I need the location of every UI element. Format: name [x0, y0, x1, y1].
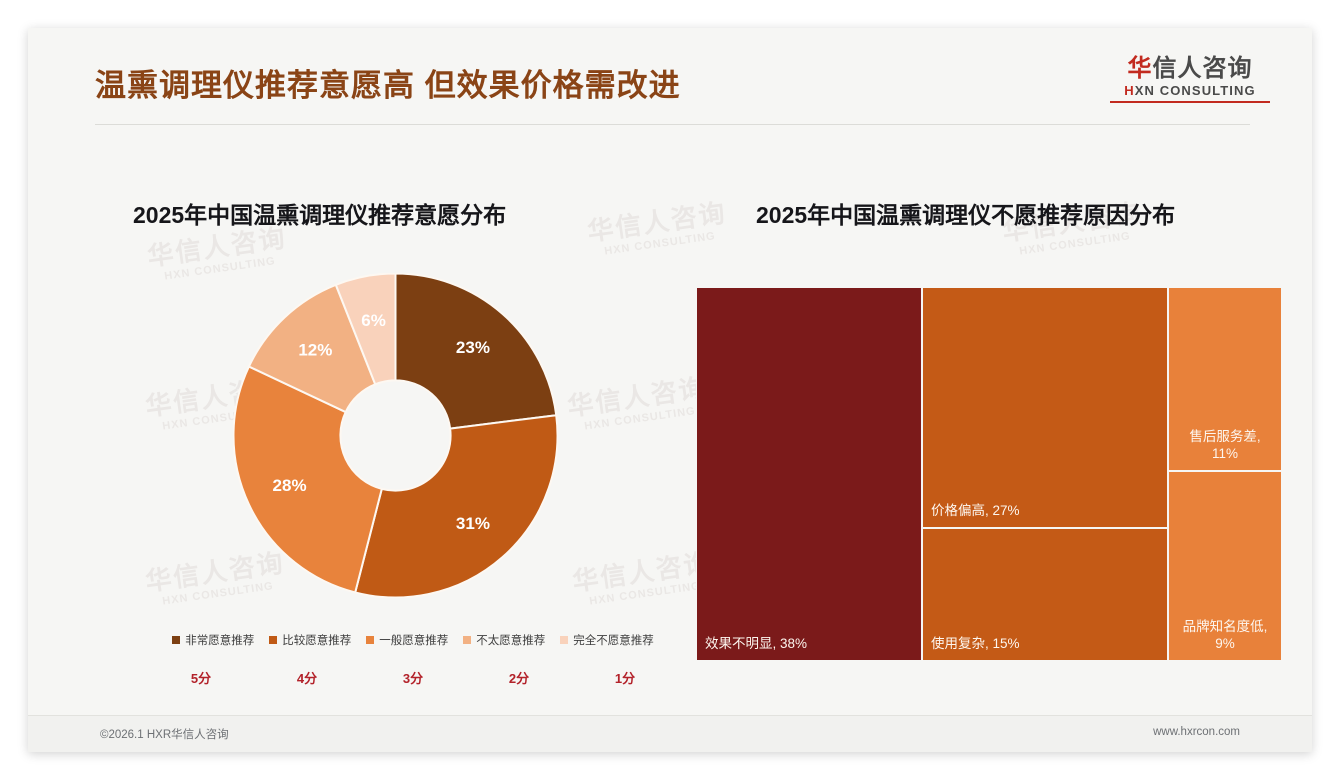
slide-canvas: 温熏调理仪推荐意愿高 但效果价格需改进 华信人咨询 HXN CONSULTING… — [28, 28, 1312, 752]
logo-underline — [1110, 101, 1270, 103]
legend-swatch-icon — [269, 636, 277, 644]
watermark: 华信人咨询 HXN CONSULTING — [586, 198, 731, 260]
slide-header: 温熏调理仪推荐意愿高 但效果价格需改进 华信人咨询 HXN CONSULTING — [28, 28, 1312, 128]
donut-slice-label: 28% — [273, 476, 307, 495]
watermark-en: HXN CONSULTING — [570, 403, 710, 435]
legend-item-label: 不太愿意推荐 — [476, 632, 545, 648]
treemap-cell[interactable]: 价格偏高, 27% — [922, 287, 1168, 528]
watermark: 华信人咨询 HXN CONSULTING — [571, 548, 716, 610]
footer-copyright: ©2026.1 HXR华信人咨询 — [100, 726, 229, 742]
score-label: 3分 — [360, 668, 466, 687]
watermark-cn: 华信人咨询 — [586, 198, 729, 247]
watermark-en: HXN CONSULTING — [1005, 228, 1145, 260]
treemap-cell[interactable]: 使用复杂, 15% — [922, 528, 1168, 661]
donut-slice-label: 31% — [456, 514, 490, 533]
legend-swatch-icon — [172, 636, 180, 644]
watermark-cn: 华信人咨询 — [566, 373, 709, 422]
legend-item-label: 非常愿意推荐 — [185, 632, 254, 648]
watermark: 华信人咨询 HXN CONSULTING — [566, 373, 711, 435]
logo-en-rest: XN CONSULTING — [1135, 83, 1256, 98]
legend-item-label: 比较愿意推荐 — [282, 632, 351, 648]
watermark-en: HXN CONSULTING — [575, 578, 715, 610]
treemap-cell-label: 价格偏高, 27% — [931, 503, 1159, 520]
donut-slice-label: 12% — [298, 341, 332, 360]
donut-slice-label: 6% — [361, 311, 386, 330]
treemap-cell[interactable]: 售后服务差,11% — [1168, 287, 1282, 471]
header-divider — [95, 124, 1250, 125]
donut-legend: 非常愿意推荐比较愿意推荐一般愿意推荐不太愿意推荐完全不愿意推荐 — [133, 632, 693, 648]
donut-slice[interactable] — [233, 367, 381, 593]
watermark-en: HXN CONSULTING — [590, 228, 730, 260]
footer-bar: ©2026.1 HXR华信人咨询 www.hxrcon.com — [28, 715, 1312, 752]
legend-item[interactable]: 完全不愿意推荐 — [560, 632, 654, 648]
score-label: 5分 — [148, 668, 254, 687]
watermark-cn: 华信人咨询 — [571, 548, 714, 597]
logo-cn-accent: 华 — [1128, 55, 1153, 82]
logo-english-text: HXN CONSULTING — [1110, 83, 1270, 98]
page-title: 温熏调理仪推荐意愿高 但效果价格需改进 — [95, 60, 681, 105]
donut-slice-group — [233, 274, 557, 598]
right-chart-title: 2025年中国温熏调理仪不愿推荐原因分布 — [756, 196, 1175, 230]
treemap-cell[interactable]: 品牌知名度低,9% — [1168, 471, 1282, 661]
donut-slice[interactable] — [355, 415, 557, 597]
left-chart-title: 2025年中国温熏调理仪推荐意愿分布 — [133, 196, 506, 230]
legend-item-label: 完全不愿意推荐 — [573, 632, 654, 648]
score-label: 2分 — [466, 668, 572, 687]
legend-swatch-icon — [366, 636, 374, 644]
legend-swatch-icon — [560, 636, 568, 644]
legend-item[interactable]: 一般愿意推荐 — [366, 632, 448, 648]
treemap-cell-label: 品牌知名度低,9% — [1173, 619, 1277, 653]
legend-item[interactable]: 比较愿意推荐 — [269, 632, 351, 648]
legend-item[interactable]: 不太愿意推荐 — [463, 632, 545, 648]
legend-item-label: 一般愿意推荐 — [379, 632, 448, 648]
score-label: 4分 — [254, 668, 360, 687]
treemap-cell-label: 使用复杂, 15% — [931, 636, 1159, 653]
legend-swatch-icon — [463, 636, 471, 644]
donut-chart: 23%31%28%12%6% — [233, 273, 558, 598]
company-logo: 华信人咨询 HXN CONSULTING — [1110, 56, 1270, 103]
legend-item[interactable]: 非常愿意推荐 — [172, 632, 254, 648]
watermark-cn: 华信人咨询 — [146, 223, 289, 272]
logo-cn-rest: 信人咨询 — [1153, 55, 1253, 82]
logo-en-accent: H — [1124, 83, 1135, 98]
score-axis: 5分4分3分2分1分 — [148, 668, 678, 687]
score-label: 1分 — [572, 668, 678, 687]
treemap-cell[interactable]: 效果不明显, 38% — [696, 287, 922, 661]
footer-website[interactable]: www.hxrcon.com — [1153, 726, 1240, 738]
treemap-cell-label: 效果不明显, 38% — [705, 636, 913, 653]
donut-slice-label: 23% — [456, 338, 490, 357]
donut-svg: 23%31%28%12%6% — [233, 273, 558, 598]
treemap-cell-label: 售后服务差,11% — [1173, 429, 1277, 463]
treemap-chart: 效果不明显, 38%价格偏高, 27%使用复杂, 15%售后服务差,11%品牌知… — [696, 287, 1282, 661]
logo-chinese-text: 华信人咨询 — [1110, 56, 1270, 81]
